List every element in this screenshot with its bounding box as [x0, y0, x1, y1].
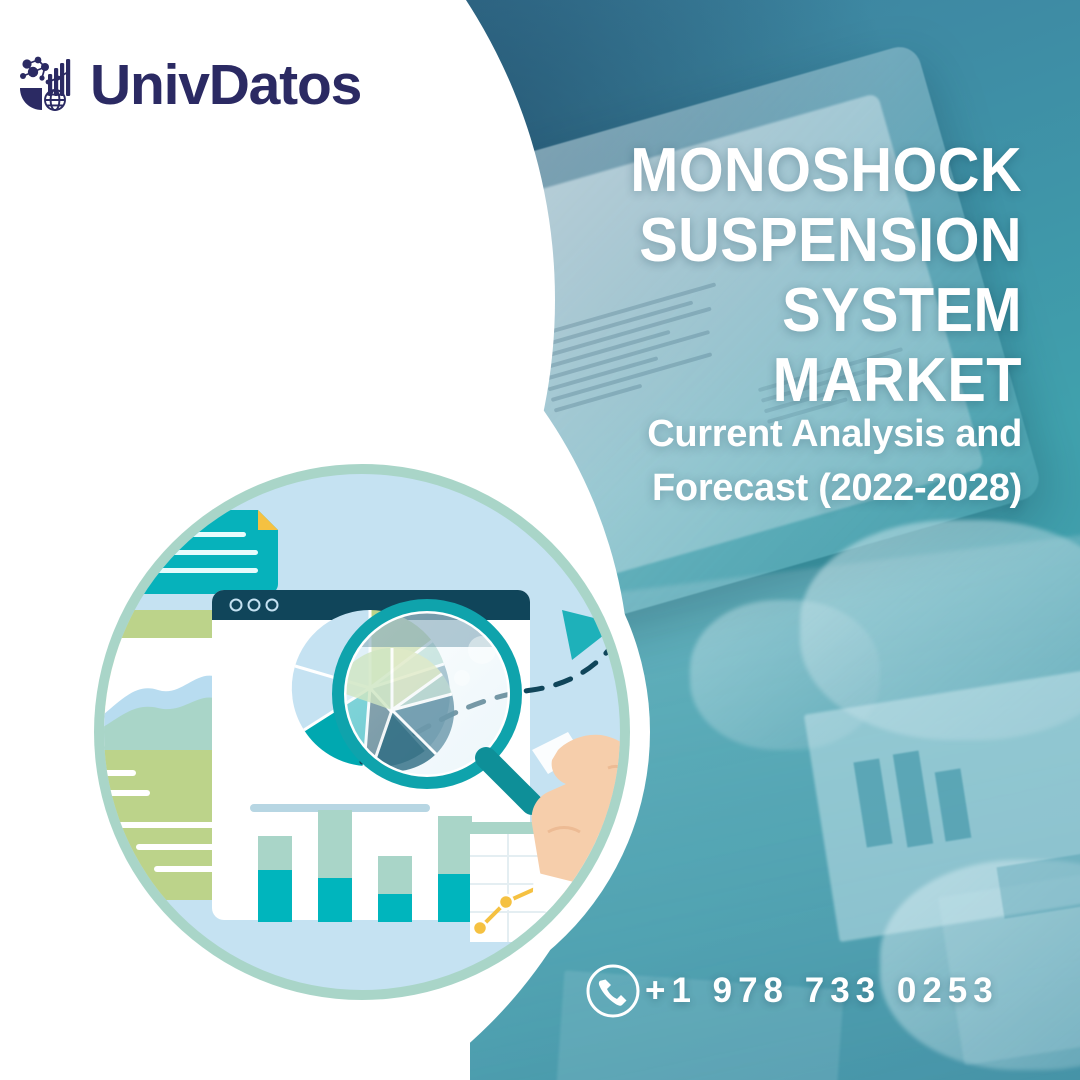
- phone-number: +1 978 733 0253: [645, 971, 999, 1011]
- bar-1: [258, 836, 292, 922]
- bar-2: [318, 810, 352, 922]
- data-analysis-circle-illustration: [62, 432, 662, 1032]
- bar-4: [438, 816, 472, 922]
- headline-block: MONOSHOCK SUSPENSION SYSTEM MARKET: [382, 136, 1022, 416]
- headline-line-2: SUSPENSION SYSTEM: [427, 206, 1022, 346]
- marketing-poster: UnivDatos MONOSHOCK SUSPENSION SYSTEM MA…: [0, 0, 1080, 1080]
- headline-line-1: MONOSHOCK: [427, 136, 1022, 206]
- brand-logo[interactable]: UnivDatos: [14, 52, 361, 118]
- bar-3: [378, 856, 412, 922]
- headline-line-3: MARKET: [427, 346, 1022, 416]
- brand-name: UnivDatos: [90, 57, 361, 114]
- univdatos-logo-icon: [14, 52, 80, 118]
